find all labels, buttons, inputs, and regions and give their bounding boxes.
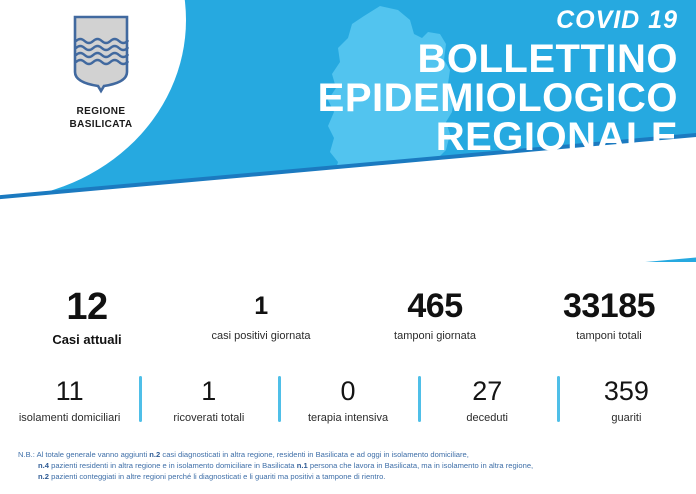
footnote-line-1: N.B.: Al totale generale vanno aggiunti … [18, 449, 682, 460]
footnote-3-count: n.2 [38, 472, 49, 481]
title-line-regionale: REGIONALE [208, 118, 678, 157]
bulletin-date-block: 9 Giugno 2020 ore 12,00 [208, 168, 678, 222]
covid-label: COVID 19 [208, 6, 678, 34]
stat-tamponi-giornata: 465 tamponi giornata [348, 286, 522, 347]
stat-guariti: 359 guariti [557, 374, 696, 424]
basilicata-crest-icon [71, 14, 131, 98]
stat-value: 11 [2, 374, 137, 408]
stat-label: terapia intensiva [280, 412, 415, 424]
footnote-1-text-c: casi diagnosticati in altra regione, res… [160, 450, 469, 459]
stat-value: 1 [174, 286, 348, 326]
stat-value: 33185 [522, 286, 696, 326]
stat-label: Casi attuali [0, 332, 174, 347]
stat-isolamenti-domiciliari: 11 isolamenti domiciliari [0, 374, 139, 424]
stat-value: 0 [280, 374, 415, 408]
footnote-1-text-a: N.B.: Al totale generale vanno aggiunti [18, 450, 149, 459]
stat-label: isolamenti domiciliari [2, 412, 137, 424]
footnote-2-text-b: pazienti residenti in altra regione e in… [49, 461, 297, 470]
stat-label: tamponi totali [522, 330, 696, 342]
footnote-line-3: n.2 pazienti conteggiati in altre region… [18, 471, 682, 482]
bulletin-time: ore 12,00 [208, 195, 678, 222]
covid-bulletin-poster: REGIONE BASILICATA COVID 19 BOLLETTINO E… [0, 0, 696, 494]
stat-value: 12 [0, 286, 174, 328]
footnote-1-count: n.2 [149, 450, 160, 459]
stat-tamponi-totali: 33185 tamponi totali [522, 286, 696, 347]
footnote-3-text-b: pazienti conteggiati in altre regioni pe… [49, 472, 385, 481]
title-line-bollettino: BOLLETTINO [208, 40, 678, 79]
stat-value: 27 [420, 374, 555, 408]
logo-line-basilicata: BASILICATA [52, 118, 150, 131]
logo-line-regione: REGIONE [52, 105, 150, 118]
header-text-block: COVID 19 BOLLETTINO EPIDEMIOLOGICO REGIO… [208, 6, 678, 246]
footnote-2-count-c: n.1 [297, 461, 308, 470]
footnote-block: N.B.: Al totale generale vanno aggiunti … [18, 449, 682, 483]
stat-deceduti: 27 deceduti [418, 374, 557, 424]
regione-basilicata-logo: REGIONE BASILICATA [52, 14, 150, 131]
stat-casi-attuali: 12 Casi attuali [0, 286, 174, 347]
stat-label: deceduti [420, 412, 555, 424]
bulletin-date: 9 Giugno 2020 [208, 168, 678, 195]
stat-label: ricoverati totali [141, 412, 276, 424]
stat-terapia-intensiva: 0 terapia intensiva [278, 374, 417, 424]
stat-ricoverati-totali: 1 ricoverati totali [139, 374, 278, 424]
page-title: BOLLETTINO EPIDEMIOLOGICO REGIONALE [208, 40, 678, 157]
footnote-line-2: n.4 pazienti residenti in altra regione … [18, 460, 682, 471]
stat-value: 1 [141, 374, 276, 408]
stat-casi-positivi-giornata: 1 casi positivi giornata [174, 286, 348, 347]
stat-label: casi positivi giornata [174, 330, 348, 342]
stat-value: 359 [559, 374, 694, 408]
stat-label: tamponi giornata [348, 330, 522, 342]
primary-stats-row: 12 Casi attuali 1 casi positivi giornata… [0, 286, 696, 347]
title-line-epidemiologico: EPIDEMIOLOGICO [208, 79, 678, 118]
footnote-2-text-d: persona che lavora in Basilicata, ma in … [308, 461, 533, 470]
footnote-2-count-a: n.4 [38, 461, 49, 470]
stat-value: 465 [348, 286, 522, 326]
stat-label: guariti [559, 412, 694, 424]
data-collection-note: dati rilevati alle ore 24,00 del 8 giugn… [208, 231, 678, 246]
secondary-stats-row: 11 isolamenti domiciliari 1 ricoverati t… [0, 374, 696, 424]
